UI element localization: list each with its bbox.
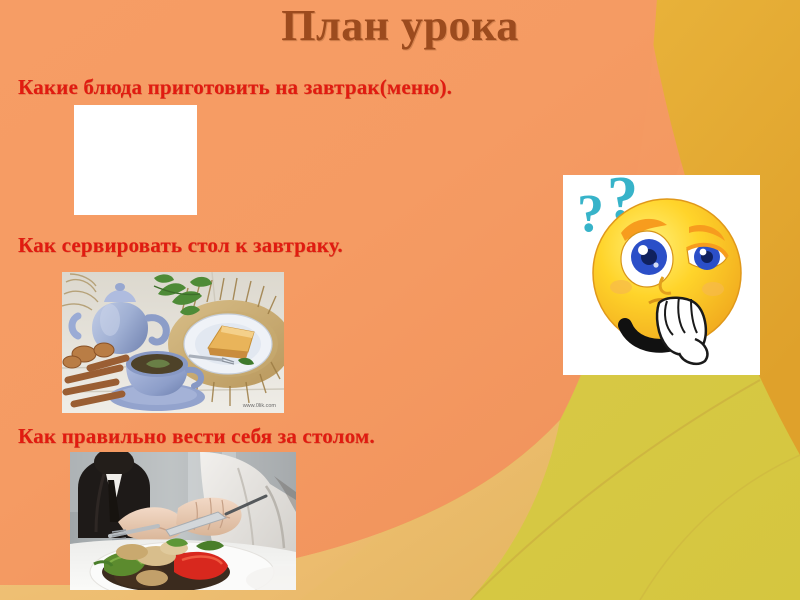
chef-canvas (74, 105, 197, 215)
bullet-item-2: Как сервировать стол к завтраку. (18, 233, 343, 257)
cake-plate (184, 314, 272, 374)
image-thinking-smiley: ? ? (563, 175, 760, 375)
cheek-right (702, 282, 724, 296)
slide-canvas: План урока Какие блюда приготовить на за… (0, 0, 800, 600)
cheek-left (610, 280, 632, 294)
background-arc-stroke-2 (640, 455, 800, 600)
photo-watermark: www.0lik.com (242, 403, 277, 409)
breakfast-illustration: www.0lik.com (62, 272, 284, 413)
eye-left (621, 231, 673, 287)
dining-illustration (70, 452, 296, 590)
image-dining-etiquette (70, 452, 296, 590)
bullet-item-1: Какие блюда приготовить на завтрак(меню)… (18, 75, 452, 99)
background-arc-stroke (470, 380, 760, 600)
image-chef-cartoon: R (74, 105, 197, 215)
bullet-item-3: Как правильно вести себя за столом. (18, 424, 375, 448)
slide-title: План урока (0, 2, 800, 50)
svg-text:?: ? (577, 183, 604, 243)
image-breakfast-table: www.0lik.com (62, 272, 284, 413)
smiley-illustration: ? ? (563, 175, 760, 375)
